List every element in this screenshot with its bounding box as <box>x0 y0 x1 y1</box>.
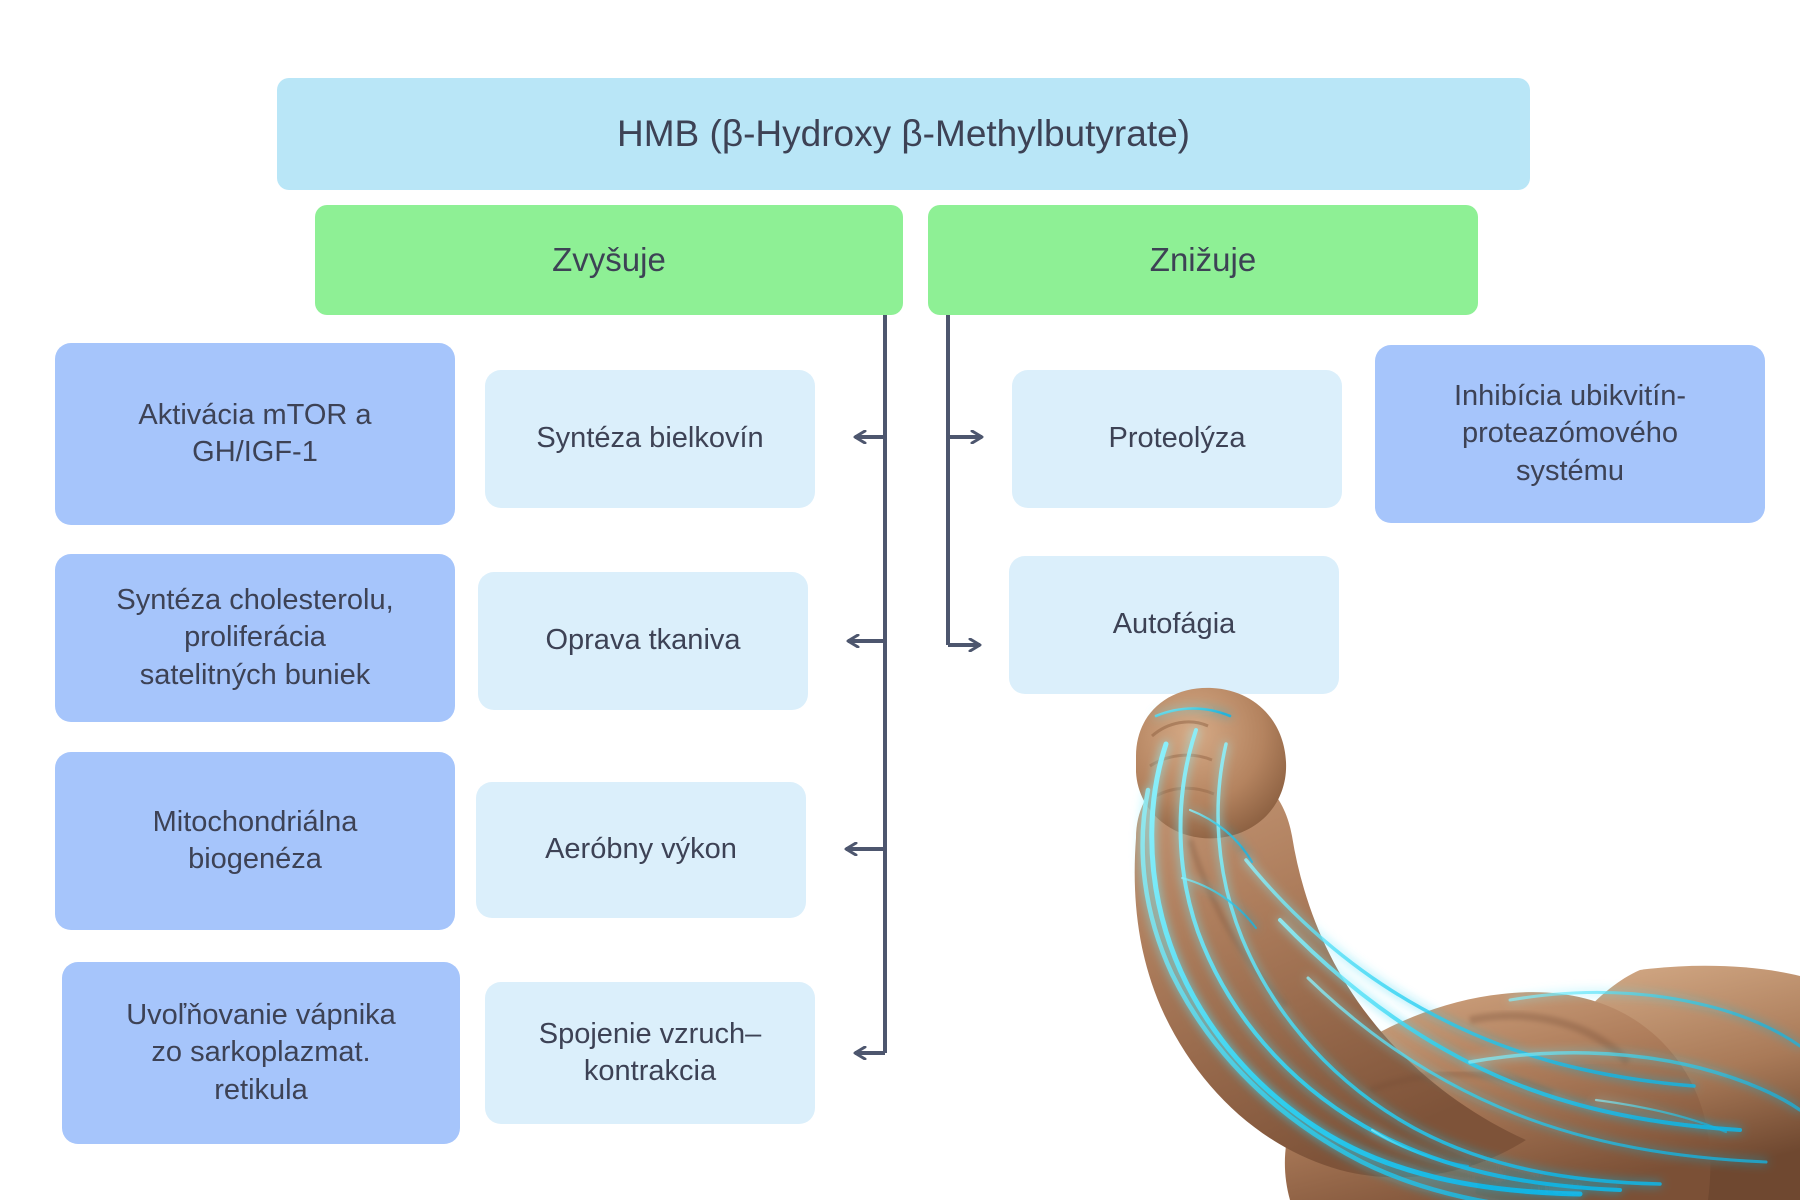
mechanism-node-ubiquitin-inhibition: Inhibícia ubikvitín- proteazómového syst… <box>1375 345 1765 523</box>
effect-node-excitation-contraction: Spojenie vzruch– kontrakcia <box>485 982 815 1124</box>
category-decrease: Znižuje <box>928 205 1478 315</box>
mechanism-node-mitochondrial: Mitochondriálna biogenéza <box>55 752 455 930</box>
category-increase: Zvyšuje <box>315 205 903 315</box>
effect-node-protein-synthesis: Syntéza bielkovín <box>485 370 815 508</box>
flexed-arm-image <box>1040 670 1800 1200</box>
increase-connector-group <box>846 313 885 1053</box>
diagram-title: HMB (β-Hydroxy β-Methylbutyrate) <box>277 78 1530 190</box>
diagram-canvas: HMB (β-Hydroxy β-Methylbutyrate) Zvyšuje… <box>0 0 1800 1200</box>
mechanism-node-mtor: Aktivácia mTOR a GH/IGF-1 <box>55 343 455 525</box>
mechanism-node-cholesterol: Syntéza cholesterolu, proliferácia satel… <box>55 554 455 722</box>
effect-node-tissue-repair: Oprava tkaniva <box>478 572 808 710</box>
effect-node-aerobic-performance: Aeróbny výkon <box>476 782 806 918</box>
effect-node-proteolysis: Proteolýza <box>1012 370 1342 508</box>
mechanism-node-calcium: Uvoľňovanie vápnika zo sarkoplazmat. ret… <box>62 962 460 1144</box>
decrease-connector-group <box>948 313 982 645</box>
